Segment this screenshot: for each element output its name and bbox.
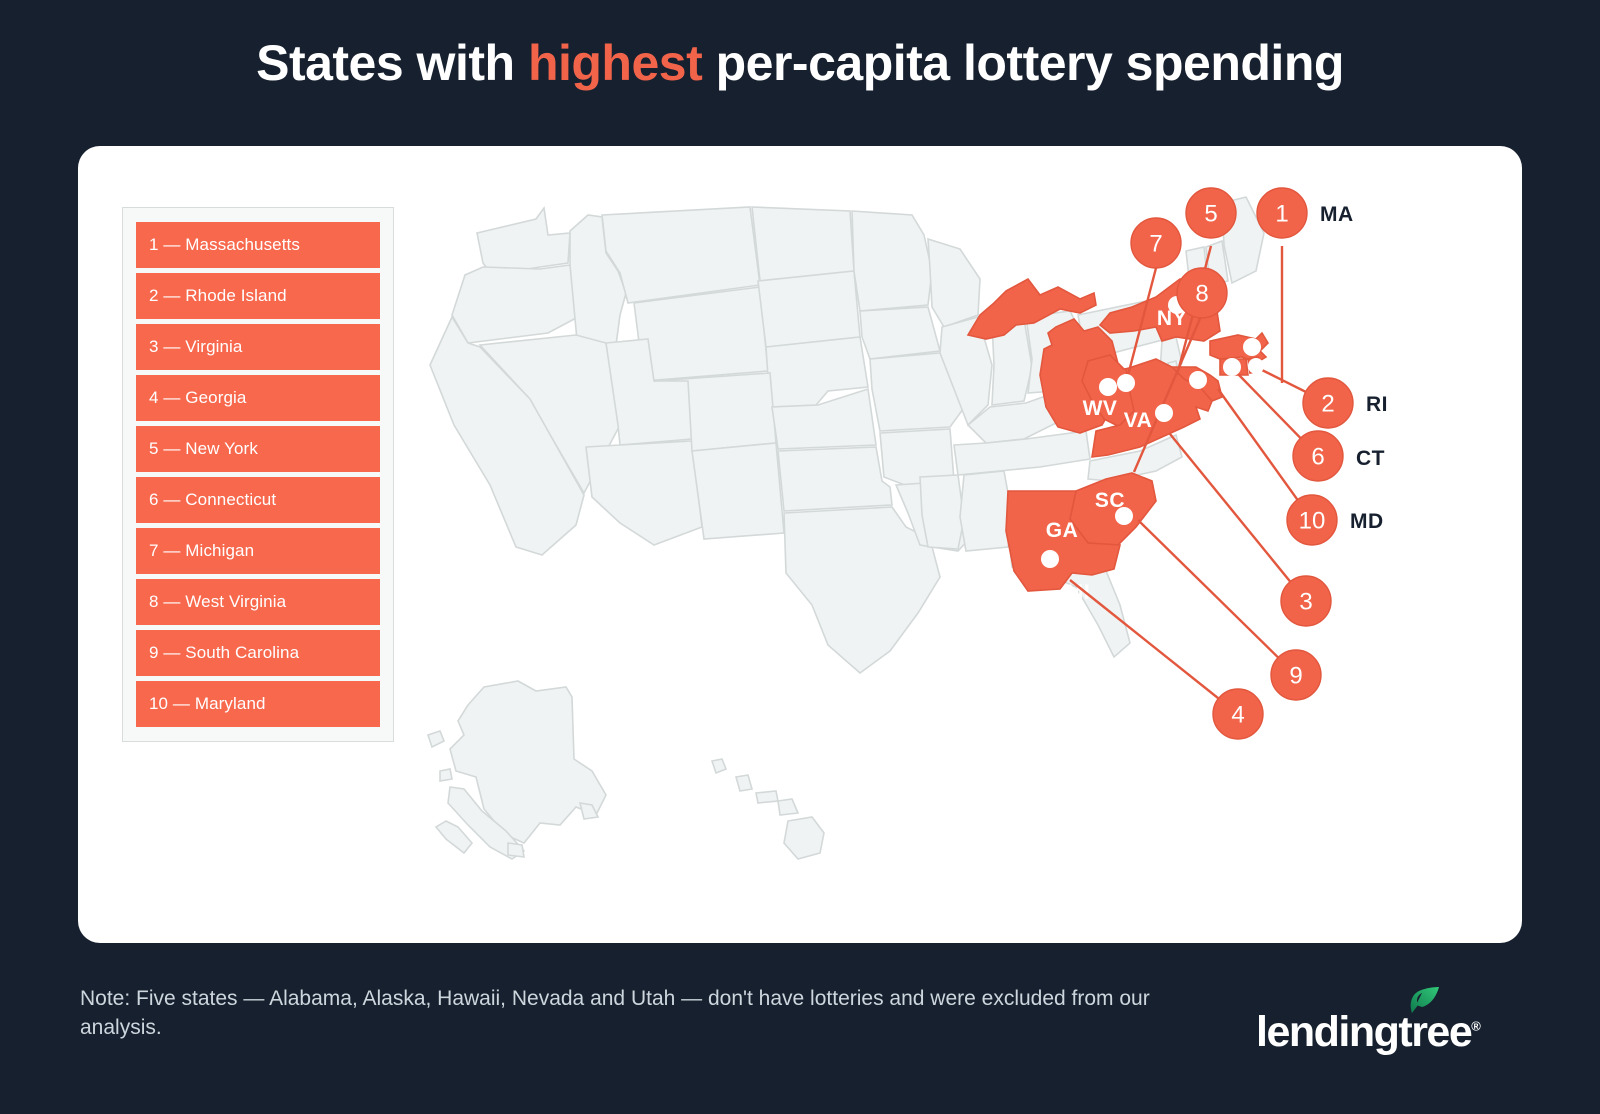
map-marker[interactable]: 7	[1131, 218, 1181, 268]
footnote: Note: Five states — Alabama, Alaska, Haw…	[80, 985, 1170, 1043]
map-marker[interactable]: 9	[1271, 650, 1321, 700]
legend-label: 5 — New York	[149, 439, 258, 459]
list-item[interactable]: 2 — Rhode Island	[136, 273, 380, 319]
marker-label: 1	[1275, 201, 1288, 228]
callout-label-ri: RI	[1366, 393, 1388, 416]
marker-label: 5	[1204, 201, 1217, 228]
ranking-legend: 1 — Massachusetts 2 — Rhode Island 3 — V…	[122, 207, 394, 742]
legend-label: 8 — West Virginia	[149, 592, 286, 612]
map-marker[interactable]: 10	[1287, 495, 1337, 545]
leader-line-3	[1170, 434, 1306, 601]
map-label-va: VA	[1124, 409, 1153, 432]
marker-label: 4	[1231, 702, 1244, 729]
marker-label: 6	[1311, 444, 1324, 471]
map-marker[interactable]: 4	[1213, 689, 1263, 739]
map-marker[interactable]: 2	[1303, 378, 1353, 428]
state-dot-ma	[1243, 338, 1261, 356]
state-dot-md	[1189, 371, 1207, 389]
page-title: States with highest per-capita lottery s…	[0, 34, 1600, 92]
callout-label-ct: CT	[1356, 447, 1385, 470]
map-marker[interactable]: 3	[1281, 576, 1331, 626]
us-choropleth-map: MI NY WV VA SC GA 5 1	[420, 175, 1500, 915]
marker-label: 8	[1195, 281, 1208, 308]
callout-label-md: MD	[1350, 510, 1384, 533]
state-dot-ri	[1248, 358, 1264, 374]
list-item[interactable]: 9 — South Carolina	[136, 630, 380, 676]
list-item[interactable]: 8 — West Virginia	[136, 579, 380, 625]
legend-label: 2 — Rhode Island	[149, 286, 287, 306]
logo-wordmark: lendingtree®	[1256, 1008, 1481, 1057]
title-part-1: States with	[256, 35, 528, 91]
legend-label: 1 — Massachusetts	[149, 235, 300, 255]
registered-mark: ®	[1471, 1019, 1481, 1034]
legend-label: 4 — Georgia	[149, 388, 246, 408]
legend-label: 9 — South Carolina	[149, 643, 299, 663]
state-dot-ct	[1223, 358, 1241, 376]
state-dot-ga	[1041, 550, 1059, 568]
list-item[interactable]: 4 — Georgia	[136, 375, 380, 421]
state-dot-va	[1155, 404, 1173, 422]
state-dot-sc	[1115, 507, 1133, 525]
title-part-2: per-capita lottery spending	[702, 35, 1344, 91]
list-item[interactable]: 6 — Connecticut	[136, 477, 380, 523]
legend-label: 3 — Virginia	[149, 337, 243, 357]
legend-label: 6 — Connecticut	[149, 490, 276, 510]
map-marker[interactable]: 5	[1186, 188, 1236, 238]
list-item[interactable]: 1 — Massachusetts	[136, 222, 380, 268]
map-marker[interactable]: 6	[1293, 431, 1343, 481]
state-alaska	[428, 681, 606, 859]
map-label-ga: GA	[1046, 519, 1079, 542]
state-dot-wv	[1099, 378, 1117, 396]
list-item[interactable]: 5 — New York	[136, 426, 380, 472]
map-marker[interactable]: 8	[1177, 268, 1227, 318]
marker-label: 2	[1321, 391, 1334, 418]
callout-label-ma: MA	[1320, 203, 1354, 226]
legend-label: 10 — Maryland	[149, 694, 266, 714]
marker-label: 7	[1149, 231, 1162, 258]
lendingtree-logo[interactable]: lendingtree®	[1256, 985, 1526, 1057]
list-item[interactable]: 10 — Maryland	[136, 681, 380, 727]
map-label-wv: WV	[1083, 397, 1118, 420]
state-hawaii	[712, 759, 824, 859]
list-item[interactable]: 7 — Michigan	[136, 528, 380, 574]
marker-label: 9	[1289, 663, 1302, 690]
logo-word: lendingtree	[1256, 1008, 1471, 1056]
legend-label: 7 — Michigan	[149, 541, 254, 561]
title-highlight: highest	[528, 35, 702, 91]
state-dot-mi	[1117, 374, 1135, 392]
map-marker[interactable]: 1	[1257, 188, 1307, 238]
leader-line-4	[1070, 580, 1238, 714]
marker-label: 10	[1299, 508, 1326, 535]
list-item[interactable]: 3 — Virginia	[136, 324, 380, 370]
marker-label: 3	[1299, 589, 1312, 616]
